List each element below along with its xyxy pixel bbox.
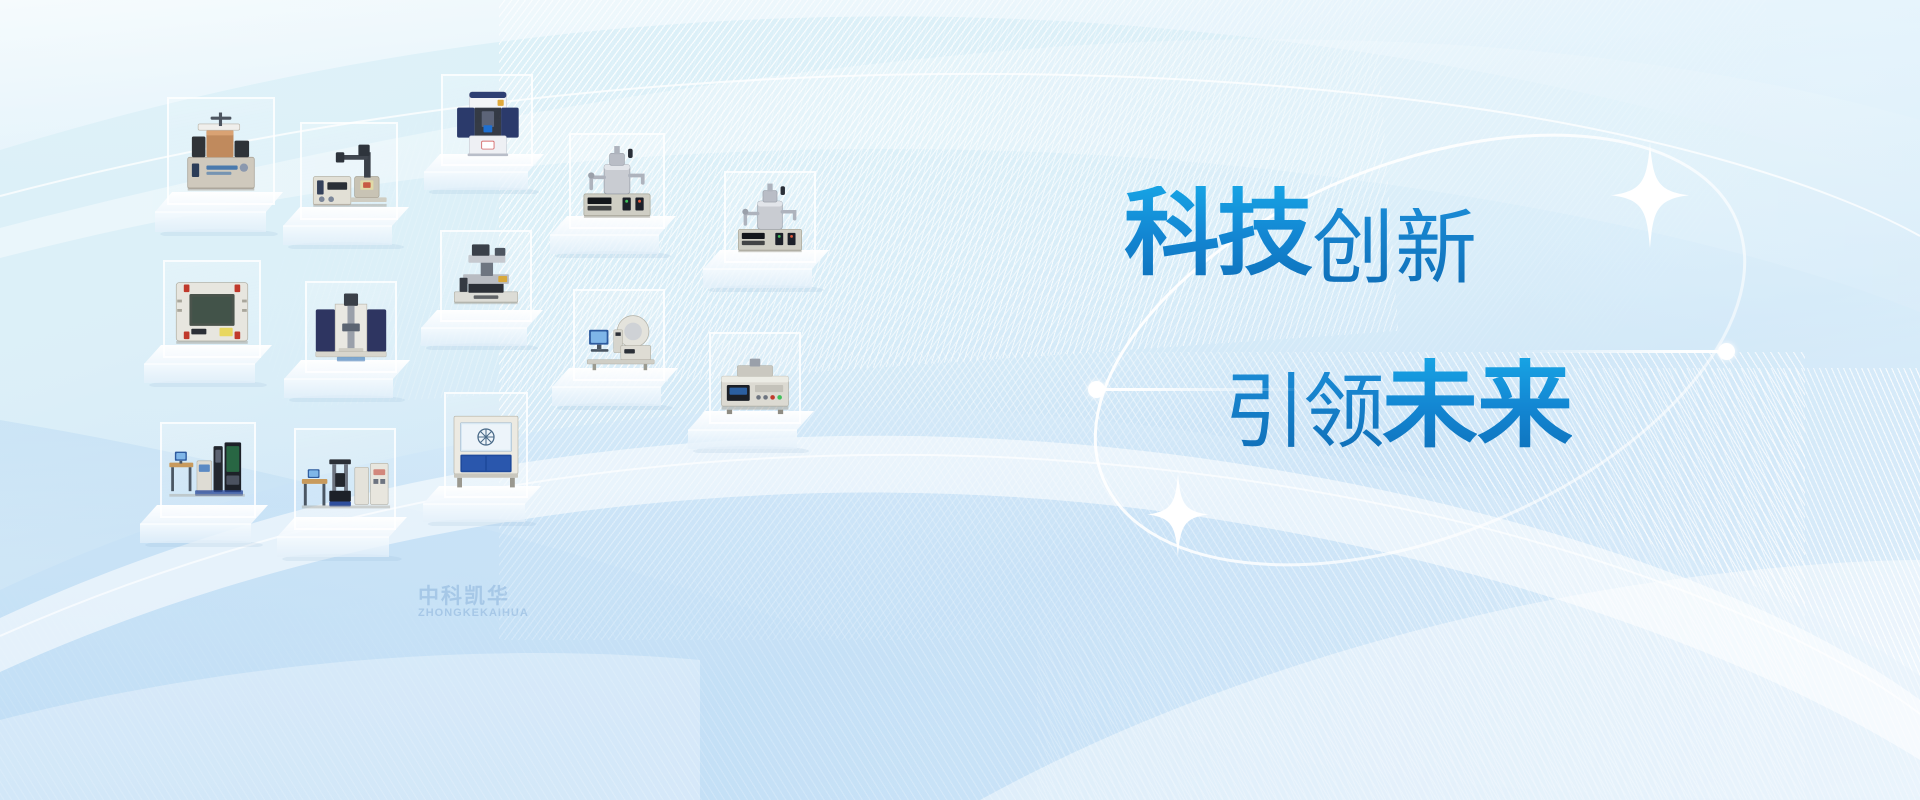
product-card-frame	[305, 281, 397, 373]
headline-1-char-2: 技	[1217, 186, 1312, 282]
product-photo	[711, 334, 799, 422]
product-card[interactable]	[167, 97, 275, 205]
watermark-cn: 中科凯华	[418, 585, 510, 608]
product-card[interactable]	[441, 74, 533, 166]
product-card-frame	[440, 230, 532, 322]
product-photo	[307, 283, 395, 371]
product-card-frame	[724, 171, 816, 263]
product-card-frame	[163, 260, 261, 358]
headline-2-char-2: 领	[1303, 372, 1384, 454]
product-card-frame	[573, 289, 665, 381]
product-card[interactable]	[724, 171, 816, 263]
product-card-frame	[160, 422, 256, 518]
product-card[interactable]	[444, 392, 528, 498]
product-photo	[575, 291, 663, 379]
product-photo	[162, 424, 254, 516]
product-card-frame	[300, 122, 398, 220]
product-photo	[571, 135, 663, 227]
watermark-en: ZHONGKEKAIHUA	[418, 608, 529, 620]
headline-1-char-1: 科	[1124, 186, 1219, 282]
product-card[interactable]	[305, 281, 397, 373]
product-card[interactable]	[300, 122, 398, 220]
product-photo	[296, 430, 394, 528]
product-card-frame	[167, 97, 275, 205]
product-card[interactable]	[160, 422, 256, 518]
hero-banner: 中科凯华 ZHONGKEKAIHUA 科技创新 引领未来	[0, 0, 1920, 800]
product-photo	[726, 173, 814, 261]
headline-1-char-3: 创	[1312, 208, 1393, 290]
product-card-frame	[569, 133, 665, 229]
product-card[interactable]	[440, 230, 532, 322]
product-photo	[443, 76, 531, 164]
product-card[interactable]	[163, 260, 261, 358]
decor-line-right	[1510, 350, 1720, 353]
headline-1-char-4: 新	[1395, 208, 1476, 290]
headline-line-2: 引领未来	[1224, 358, 1572, 454]
product-card-frame	[294, 428, 396, 530]
product-photo	[442, 232, 530, 320]
product-card[interactable]	[569, 133, 665, 229]
decor-dot-left	[1088, 381, 1105, 398]
product-card[interactable]	[573, 289, 665, 381]
decor-dot-right	[1718, 343, 1735, 360]
product-card-frame	[709, 332, 801, 424]
product-photo	[446, 394, 526, 496]
headline-2-char-4: 来	[1477, 358, 1572, 454]
product-photo	[165, 262, 259, 356]
headline-2-char-3: 未	[1382, 358, 1477, 454]
product-card[interactable]	[294, 428, 396, 530]
product-photo	[169, 99, 273, 203]
decor-line-left	[1096, 388, 1306, 391]
headline-line-1: 科技创新	[1124, 186, 1476, 282]
product-photo	[302, 124, 396, 218]
product-card[interactable]	[709, 332, 801, 424]
product-card-frame	[444, 392, 528, 498]
brand-watermark: 中科凯华 ZHONGKEKAIHUA	[418, 586, 529, 620]
product-card-frame	[441, 74, 533, 166]
headline-2-char-1: 引	[1224, 372, 1305, 454]
